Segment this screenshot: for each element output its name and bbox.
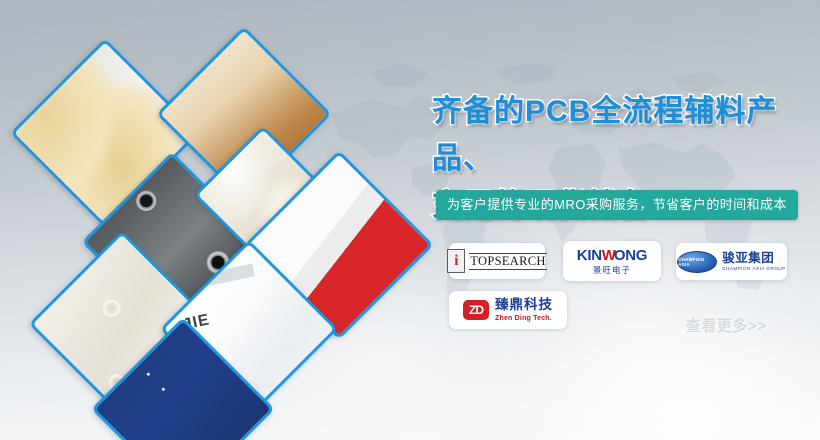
zhen-ding-name-en: Zhen Ding Tech. xyxy=(495,315,553,322)
logo-card-topsearch[interactable]: i TOPSEARCH xyxy=(449,243,545,279)
topsearch-logo: i TOPSEARCH xyxy=(447,249,546,273)
champion-asia-logo: CHAMPION ASIA 骏亚集团 CHAMPION ASIA GROUP xyxy=(677,251,786,273)
zhen-ding-logo: ZD 臻鼎科技 Zhen Ding Tech. xyxy=(463,298,553,322)
kinwong-part1: KIN xyxy=(577,247,602,264)
logo-card-zhen-ding[interactable]: ZD 臻鼎科技 Zhen Ding Tech. xyxy=(449,291,567,329)
zhen-ding-mark-icon: ZD xyxy=(463,300,489,320)
logo-card-champion-asia[interactable]: CHAMPION ASIA 骏亚集团 CHAMPION ASIA GROUP xyxy=(676,243,787,280)
promo-banner: JIE 齐备的PCB全流程辅料产品、 充足的现货储备 为客户提供专业的MRO采购… xyxy=(0,0,820,440)
zhen-ding-name-cn: 臻鼎科技 xyxy=(495,298,553,312)
champion-asia-name-cn: 骏亚集团 xyxy=(722,252,786,265)
subtitle-badge: 为客户提供专业的MRO采购服务，节省客户的时间和成本 xyxy=(436,190,798,220)
kinwong-part2: W xyxy=(602,247,614,264)
topsearch-mark-icon: i xyxy=(447,249,465,273)
kinwong-wordmark: KINWONG xyxy=(577,248,647,263)
logo-card-kinwong[interactable]: KINWONG 景旺电子 xyxy=(563,241,661,281)
topsearch-wordmark: TOPSEARCH xyxy=(469,253,546,270)
view-more-link[interactable]: 查看更多>> xyxy=(686,315,767,336)
kinwong-part3: ONG xyxy=(614,247,647,264)
globe-icon: CHAMPION ASIA xyxy=(677,251,717,273)
kinwong-name-cn: 景旺电子 xyxy=(577,266,647,275)
champion-asia-name-en: CHAMPION ASIA GROUP xyxy=(722,267,786,272)
kinwong-logo: KINWONG 景旺电子 xyxy=(577,248,647,275)
headline-line-1: 齐备的PCB全流程辅料产品、 xyxy=(432,95,777,175)
